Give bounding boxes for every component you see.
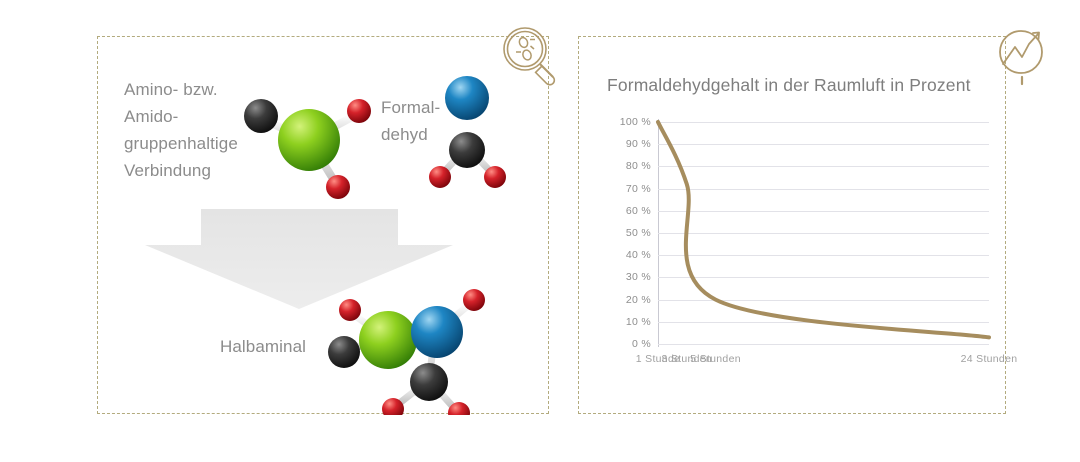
x-axis-tick-label: 5 Stunden — [690, 353, 741, 365]
y-axis-tick-label: 70 % — [626, 183, 651, 195]
chart-title: Formaldehydgehalt in der Raumluft in Pro… — [607, 75, 971, 96]
formaldehyde-label: Formal- dehyd — [381, 94, 471, 148]
y-axis-tick-label: 10 % — [626, 316, 651, 328]
reactant-label: Amino- bzw. Amido- gruppenhaltige Verbin… — [124, 76, 284, 184]
product-label: Halbaminal — [220, 333, 380, 360]
magnifier-molecule-icon — [496, 22, 566, 92]
y-axis-tick-label: 0 % — [632, 338, 651, 350]
y-axis-tick-label: 30 % — [626, 271, 651, 283]
y-axis-tick-label: 90 % — [626, 138, 651, 150]
y-axis-tick-label: 50 % — [626, 227, 651, 239]
y-axis-tick-label: 20 % — [626, 294, 651, 306]
down-arrow-icon — [145, 209, 453, 309]
trend-chart-icon — [989, 20, 1059, 90]
data-series-line — [658, 122, 989, 344]
plot-region: 100 %90 %80 %70 %60 %50 %40 %30 %20 %10 … — [658, 122, 989, 344]
x-axis-tick-label: 24 Stunden — [961, 353, 1018, 365]
y-axis-tick-label: 80 % — [626, 160, 651, 172]
reaction-panel: Amino- bzw. Amido- gruppenhaltige Verbin… — [97, 36, 549, 414]
chart-panel: Formaldehydgehalt in der Raumluft in Pro… — [578, 36, 1006, 414]
gridline — [658, 344, 989, 345]
y-axis-tick-label: 40 % — [626, 249, 651, 261]
y-axis-tick-label: 60 % — [626, 205, 651, 217]
y-axis-tick-label: 100 % — [620, 116, 651, 128]
chart-plot-area: 100 %90 %80 %70 %60 %50 %40 %30 %20 %10 … — [599, 122, 989, 392]
